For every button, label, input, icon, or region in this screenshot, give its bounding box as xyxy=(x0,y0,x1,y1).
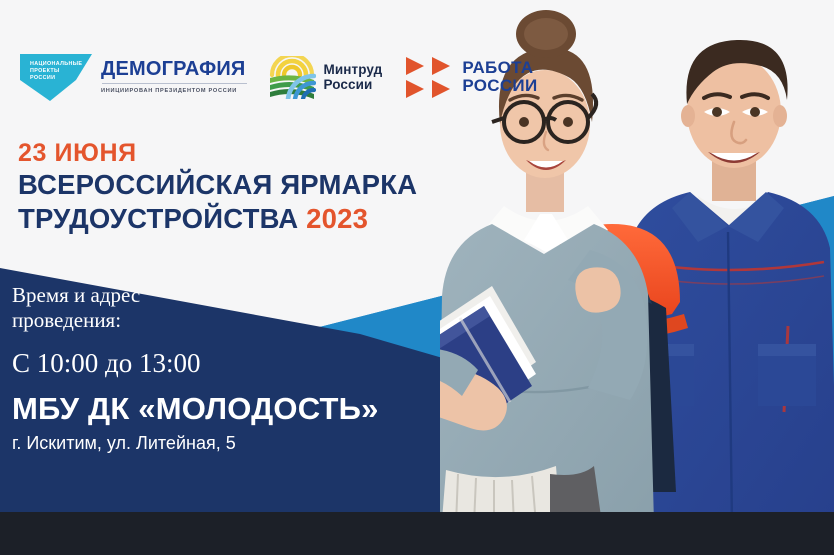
event-date: 23 ИЮНЯ xyxy=(18,138,417,168)
event-venue: МБУ ДК «МОЛОДОСТЬ» xyxy=(12,391,482,427)
info-block: Время и адрес проведения: С 10:00 до 13:… xyxy=(12,283,482,454)
bottom-bar xyxy=(0,512,834,555)
headline-line-2: ТРУДОУСТРОЙСТВА 2023 xyxy=(18,202,417,236)
logo-row: НАЦИОНАЛЬНЫЕ ПРОЕКТЫ РОССИИ ДЕМОГРАФИЯ И… xyxy=(20,52,537,102)
np-line-2: ПРОЕКТЫ xyxy=(30,68,88,75)
employment-fair-poster: НАЦИОНАЛЬНЫЕ ПРОЕКТЫ РОССИИ ДЕМОГРАФИЯ И… xyxy=(0,0,834,555)
info-lead-line-2: проведения: xyxy=(12,308,482,333)
np-line-3: РОССИИ xyxy=(30,75,88,82)
divider xyxy=(102,83,247,84)
headline-line-2-text: ТРУДОУСТРОЙСТВА xyxy=(18,203,298,234)
mintrud-text-block: Минтруд России xyxy=(324,62,383,93)
rabota-line-1: РАБОТА xyxy=(462,59,537,78)
demography-text-block: ДЕМОГРАФИЯ ИНИЦИИРОВАН ПРЕЗИДЕНТОМ РОССИ… xyxy=(101,59,246,95)
event-time: С 10:00 до 13:00 xyxy=(12,347,482,379)
np-line-1: НАЦИОНАЛЬНЫЕ xyxy=(30,61,88,68)
rabota-line-2: РОССИИ xyxy=(462,77,537,96)
info-lead: Время и адрес проведения: xyxy=(12,283,482,333)
mintrud-line-1: Минтруд xyxy=(324,62,383,78)
headline-block: 23 ИЮНЯ ВСЕРОССИЙСКАЯ ЯРМАРКА ТРУДОУСТРО… xyxy=(18,138,417,236)
info-lead-line-1: Время и адрес xyxy=(12,283,482,308)
demography-subtitle: ИНИЦИИРОВАН ПРЕЗИДЕНТОМ РОССИИ xyxy=(101,87,246,95)
logo-rabota-rossii[interactable]: РАБОТА РОССИИ xyxy=(404,55,537,100)
headline-line-1: ВСЕРОССИЙСКАЯ ЯРМАРКА xyxy=(18,168,417,202)
national-projects-mark-text: НАЦИОНАЛЬНЫЕ ПРОЕКТЫ РОССИИ xyxy=(30,61,88,83)
logo-mintrud[interactable]: Минтруд России xyxy=(268,56,383,99)
headline-year: 2023 xyxy=(306,203,368,234)
logo-national-projects-demography[interactable]: НАЦИОНАЛЬНЫЕ ПРОЕКТЫ РОССИИ ДЕМОГРАФИЯ И… xyxy=(20,54,246,101)
event-address: г. Искитим, ул. Литейная, 5 xyxy=(12,432,482,454)
rabota-rossii-four-triangles-icon xyxy=(404,55,452,100)
rabota-rossii-text-block: РАБОТА РОССИИ xyxy=(462,59,537,96)
mintrud-sun-field-water-icon xyxy=(268,56,316,99)
demography-title: ДЕМОГРАФИЯ xyxy=(101,59,246,80)
national-projects-mark: НАЦИОНАЛЬНЫЕ ПРОЕКТЫ РОССИИ xyxy=(20,54,92,101)
mintrud-line-2: России xyxy=(324,77,383,93)
